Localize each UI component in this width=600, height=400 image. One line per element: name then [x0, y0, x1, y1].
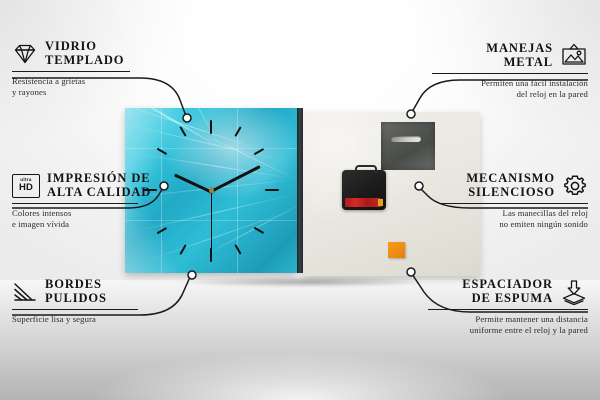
callout-description: Permiten una fácil instalación del reloj… [432, 78, 588, 100]
battery-terminal [378, 199, 383, 206]
callout-divider [12, 203, 138, 204]
callout-title: BORDES PULIDOS [45, 278, 107, 305]
callout-divider [12, 309, 138, 310]
callout-divider [12, 71, 130, 72]
hour-mark [265, 189, 279, 191]
callout-title: VIDRIO TEMPLADO [45, 40, 124, 67]
hour-mark [234, 244, 241, 254]
gear-icon [562, 173, 588, 199]
hour-mark [157, 227, 167, 234]
infographic-canvas: VIDRIO TEMPLADO Resistencia a grietas y … [0, 0, 600, 400]
hanger-keyhole-slot [391, 136, 421, 142]
callout-vidrio-templado[interactable]: VIDRIO TEMPLADO Resistencia a grietas y … [12, 40, 142, 98]
silent-clock-mechanism [342, 170, 386, 210]
hour-mark [234, 126, 241, 136]
callout-bordes-pulidos[interactable]: BORDES PULIDOS Superficie lisa y segura [12, 278, 152, 325]
callout-mecanismo-silencioso[interactable]: MECANISMO SILENCIOSO Las manecillas del … [440, 172, 588, 230]
hanging-picture-frame-icon [560, 43, 588, 69]
hour-mark [254, 148, 264, 155]
hour-mark [210, 120, 212, 134]
hour-mark [179, 126, 186, 136]
callout-header: MECANISMO SILENCIOSO [440, 172, 588, 199]
clock-hands-hub [209, 188, 214, 193]
metal-hanger-plate [381, 122, 435, 170]
callout-header: BORDES PULIDOS [12, 278, 152, 305]
callout-divider [428, 309, 588, 310]
diamond-icon [12, 42, 38, 66]
battery [345, 198, 381, 207]
callout-description: Permite mantener una distancia uniforme … [428, 314, 588, 336]
hour-mark [254, 227, 264, 234]
callout-header: ESPACIADOR DE ESPUMA [428, 278, 588, 305]
callout-description: Las manecillas del reloj no emiten ningú… [440, 208, 588, 230]
minute-hand [210, 165, 261, 193]
product-drop-shadow [131, 276, 475, 288]
callout-description: Resistencia a grietas y rayones [12, 76, 142, 98]
callout-divider [432, 73, 588, 74]
callout-impresion-alta-calidad[interactable]: ultra HD IMPRESIÓN DE ALTA CALIDAD Color… [12, 172, 152, 230]
callout-description: Colores intensos e imagen vívida [12, 208, 152, 230]
hour-mark [157, 148, 167, 155]
callout-espaciador-de-espuma[interactable]: ESPACIADOR DE ESPUMA Permite mantener un… [428, 278, 588, 336]
callout-header: MANEJAS METAL [432, 42, 588, 69]
hour-hand [174, 173, 212, 193]
second-hand [211, 190, 212, 253]
hour-mark [179, 244, 186, 254]
product-photo [125, 108, 480, 280]
polished-edge-lines-icon [12, 281, 38, 303]
callout-header: VIDRIO TEMPLADO [12, 40, 142, 67]
callout-description: Superficie lisa y segura [12, 314, 152, 325]
callout-manejas-metal[interactable]: MANEJAS METAL Permiten una fácil instala… [432, 42, 588, 100]
arrow-onto-foam-pad-icon [560, 279, 588, 305]
mechanism-handle [355, 165, 377, 174]
callout-title: ESPACIADOR DE ESPUMA [462, 278, 553, 305]
ultra-hd-icon-main-label: HD [19, 183, 33, 193]
ultra-hd-icon: ultra HD [12, 174, 40, 198]
callout-header: ultra HD IMPRESIÓN DE ALTA CALIDAD [12, 172, 152, 199]
foam-spacer [388, 242, 405, 258]
callout-title: MANEJAS METAL [486, 42, 553, 69]
callout-title: MECANISMO SILENCIOSO [466, 172, 555, 199]
callout-title: IMPRESIÓN DE ALTA CALIDAD [47, 172, 151, 199]
callout-divider [440, 203, 588, 204]
